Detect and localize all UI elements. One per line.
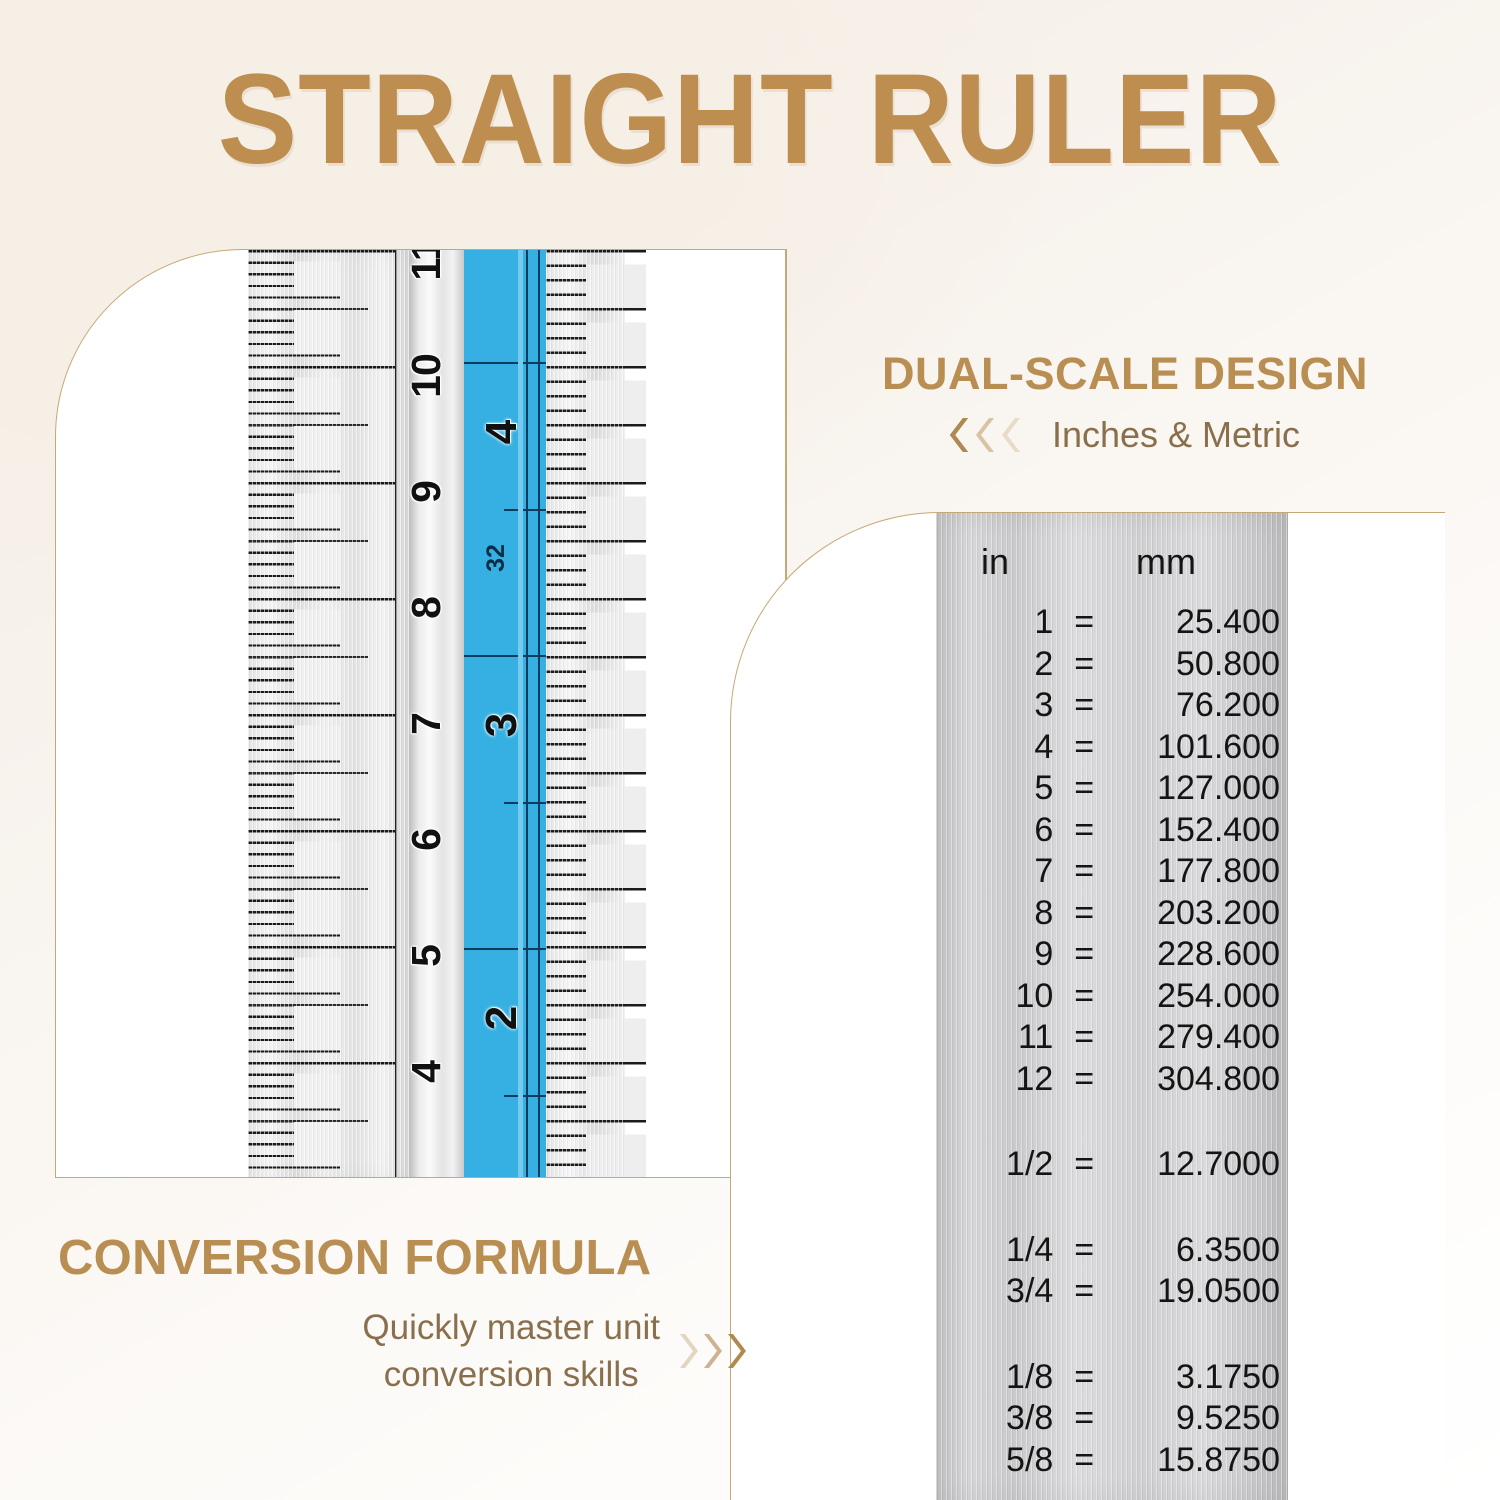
cell-millimeters: 127.000 xyxy=(1111,769,1288,808)
ruler-fine-tick-strip xyxy=(546,250,625,1178)
metric-number: 8 xyxy=(398,580,454,636)
cell-equals: = xyxy=(1057,686,1111,725)
table-row-eighth: 5/8=15.8750 xyxy=(936,1441,1288,1483)
table-row-whole: 8=203.200 xyxy=(936,894,1288,936)
cell-equals: = xyxy=(1057,977,1111,1016)
table-row-quarter: 3/4=19.0500 xyxy=(936,1272,1288,1314)
cell-equals: = xyxy=(1057,728,1111,767)
cell-equals: = xyxy=(1057,1399,1111,1438)
cell-millimeters: 101.600 xyxy=(1111,728,1288,767)
cell-equals: = xyxy=(1057,894,1111,933)
table-row-whole: 3=76.200 xyxy=(936,686,1288,728)
cell-millimeters: 25.400 xyxy=(1111,603,1288,642)
cell-millimeters: 15.8750 xyxy=(1111,1441,1288,1480)
conversion-table: inmm1=25.4002=50.8003=76.2004=101.6005=1… xyxy=(936,541,1288,1482)
cell-millimeters: 152.400 xyxy=(1111,811,1288,850)
cell-equals: = xyxy=(1057,852,1111,891)
cell-inches: 4 xyxy=(936,728,1057,767)
cell-millimeters: 228.600 xyxy=(1111,935,1288,974)
conversion-heading: CONVERSION FORMULA xyxy=(58,1230,758,1286)
table-row-whole: 6=152.400 xyxy=(936,811,1288,853)
cell-equals: = xyxy=(1057,935,1111,974)
table-group-gap xyxy=(936,1314,1288,1358)
cell-equals: = xyxy=(1057,1441,1111,1480)
chevron-left-icon-3 xyxy=(1002,416,1022,454)
page-title: STRAIGHT RULER xyxy=(53,56,1448,184)
metric-number: 9 xyxy=(398,464,454,520)
cell-inches: 11 xyxy=(936,1018,1057,1057)
cell-equals: = xyxy=(1057,645,1111,684)
chevron-right-icon-1 xyxy=(678,1332,698,1370)
cell-millimeters: 254.000 xyxy=(1111,977,1288,1016)
conversion-subrow: Quickly master unit conversion skills xyxy=(58,1304,758,1399)
cell-equals: = xyxy=(1057,1358,1111,1397)
cell-inches: 6 xyxy=(936,811,1057,850)
table-row-whole: 9=228.600 xyxy=(936,935,1288,977)
metric-number: 6 xyxy=(398,812,454,868)
cell-inches: 1 xyxy=(936,603,1057,642)
cell-millimeters: 6.3500 xyxy=(1111,1231,1288,1270)
metric-number: 4 xyxy=(398,1044,454,1100)
cell-equals: = xyxy=(1057,769,1111,808)
steel-table-strip: inmm1=25.4002=50.8003=76.2004=101.6005=1… xyxy=(936,513,1288,1500)
metric-scale-edge-line xyxy=(395,250,397,1178)
ruler-metric-scale: 1110987654 xyxy=(248,250,409,1178)
metric-number: 5 xyxy=(398,928,454,984)
ruler-photo-panel: 1110987654 43232 xyxy=(55,249,786,1178)
chevron-right-icon-3 xyxy=(726,1332,746,1370)
table-row-whole: 2=50.800 xyxy=(936,645,1288,687)
table-header-row: inmm xyxy=(936,541,1288,603)
table-row-whole: 4=101.600 xyxy=(936,728,1288,770)
dual-scale-heading: DUAL-SCALE DESIGN xyxy=(805,348,1445,400)
cell-inches: 1/2 xyxy=(936,1145,1057,1184)
cell-millimeters: 50.800 xyxy=(1111,645,1288,684)
cell-inches: 10 xyxy=(936,977,1057,1016)
chevron-right-icon-2 xyxy=(702,1332,722,1370)
cell-millimeters: 279.400 xyxy=(1111,1018,1288,1057)
cell-millimeters: 3.1750 xyxy=(1111,1358,1288,1397)
cell-inches: 3/4 xyxy=(936,1272,1057,1311)
conversion-table-panel: inmm1=25.4002=50.8003=76.2004=101.6005=1… xyxy=(730,512,1445,1500)
cell-equals: = xyxy=(1057,1018,1111,1057)
cell-inches: 7 xyxy=(936,852,1057,891)
inch-subdivision-label: 32 xyxy=(466,528,526,588)
cell-millimeters: 177.800 xyxy=(1111,852,1288,891)
cell-inches: 5 xyxy=(936,769,1057,808)
cell-inches: 5/8 xyxy=(936,1441,1057,1480)
cell-millimeters: 76.200 xyxy=(1111,686,1288,725)
metric-number: 11 xyxy=(398,249,454,288)
cell-inches: 12 xyxy=(936,1060,1057,1099)
table-row-half: 1/2=12.7000 xyxy=(936,1145,1288,1187)
cell-inches: 2 xyxy=(936,645,1057,684)
cell-inches: 1/8 xyxy=(936,1358,1057,1397)
cell-inches: 9 xyxy=(936,935,1057,974)
conversion-caption-block: CONVERSION FORMULA Quickly master unit c… xyxy=(58,1230,758,1399)
cell-millimeters: 12.7000 xyxy=(1111,1145,1288,1184)
table-group-gap xyxy=(936,1101,1288,1145)
cell-equals: = xyxy=(1057,1145,1111,1184)
cell-millimeters: 203.200 xyxy=(1111,894,1288,933)
cell-millimeters: 19.0500 xyxy=(1111,1272,1288,1311)
header-millimeters: mm xyxy=(1054,541,1278,583)
table-row-whole: 11=279.400 xyxy=(936,1018,1288,1060)
cell-equals: = xyxy=(1057,1060,1111,1099)
header-inches: in xyxy=(936,541,1054,583)
inch-number: 4 xyxy=(470,400,534,464)
cell-inches: 8 xyxy=(936,894,1057,933)
inch-number: 3 xyxy=(470,693,534,757)
chevron-right-group xyxy=(678,1332,750,1370)
table-row-whole: 1=25.400 xyxy=(936,603,1288,645)
metric-number: 7 xyxy=(398,696,454,752)
table-row-whole: 7=177.800 xyxy=(936,852,1288,894)
chevron-left-icon-2 xyxy=(976,416,996,454)
centimeter-half-ticks xyxy=(248,308,368,1178)
conversion-subtext: Quickly master unit conversion skills xyxy=(362,1304,660,1399)
table-row-whole: 5=127.000 xyxy=(936,769,1288,811)
table-row-quarter: 1/4=6.3500 xyxy=(936,1231,1288,1273)
conversion-subtext-line2: conversion skills xyxy=(384,1355,639,1394)
table-row-eighth: 3/8=9.5250 xyxy=(936,1399,1288,1441)
ruler-inch-scale: 43232 xyxy=(464,250,546,1178)
chevron-left-icon-1 xyxy=(950,416,970,454)
conversion-subtext-line1: Quickly master unit xyxy=(362,1308,660,1347)
cell-inches: 3 xyxy=(936,686,1057,725)
dual-scale-caption-block: DUAL-SCALE DESIGN Inches & Metric xyxy=(805,348,1445,456)
inch-guide-line-2 xyxy=(538,250,540,1178)
cell-equals: = xyxy=(1057,1272,1111,1311)
dual-scale-subrow: Inches & Metric xyxy=(805,414,1445,456)
chevron-left-group xyxy=(950,416,1028,454)
infographic-canvas: STRAIGHT RULER 1110987654 xyxy=(0,0,1500,1500)
table-row-eighth: 1/8=3.1750 xyxy=(936,1358,1288,1400)
cell-millimeters: 304.800 xyxy=(1111,1060,1288,1099)
ruler-photograph: 1110987654 43232 xyxy=(248,250,625,1178)
metric-number: 10 xyxy=(398,348,454,404)
cell-inches: 3/8 xyxy=(936,1399,1057,1438)
table-group-gap xyxy=(936,1187,1288,1231)
table-row-whole: 10=254.000 xyxy=(936,977,1288,1019)
cell-equals: = xyxy=(1057,811,1111,850)
inch-number: 2 xyxy=(470,986,534,1050)
table-row-whole: 12=304.800 xyxy=(936,1060,1288,1102)
cell-millimeters: 9.5250 xyxy=(1111,1399,1288,1438)
cell-equals: = xyxy=(1057,1231,1111,1270)
fine-tick-mask xyxy=(586,250,646,1178)
cell-equals: = xyxy=(1057,603,1111,642)
dual-scale-subtext: Inches & Metric xyxy=(1052,414,1300,456)
cell-inches: 1/4 xyxy=(936,1231,1057,1270)
